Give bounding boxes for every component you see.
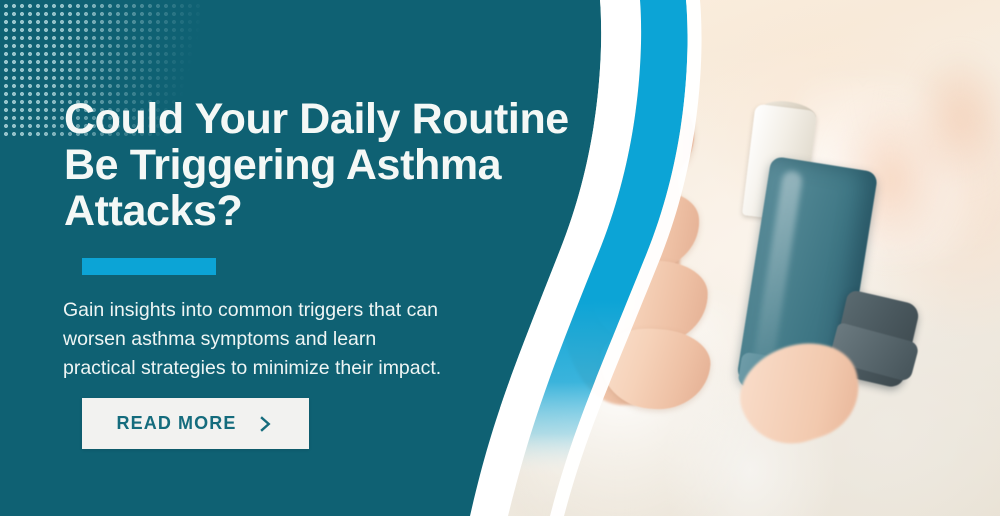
read-more-label: READ MORE bbox=[117, 413, 237, 434]
chevron-right-icon bbox=[256, 415, 274, 433]
headline-line-3: Attacks? bbox=[64, 187, 242, 235]
read-more-button[interactable]: READ MORE bbox=[82, 398, 309, 449]
subtitle-line-2: worsen asthma symptoms and learn bbox=[63, 328, 376, 350]
subtitle-line-1: Gain insights into common triggers that … bbox=[63, 299, 438, 321]
headline-line-1: Could Your Daily Routine bbox=[64, 95, 569, 143]
subtitle: Gain insights into common triggers that … bbox=[63, 296, 523, 383]
page-title: Could Your Daily RoutineBe Triggering As… bbox=[64, 96, 584, 234]
promo-banner: Could Your Daily RoutineBe Triggering As… bbox=[0, 0, 1000, 516]
content-column: Could Your Daily RoutineBe Triggering As… bbox=[0, 0, 620, 516]
headline-line-2: Be Triggering Asthma bbox=[64, 141, 501, 189]
subtitle-line-3: practical strategies to minimize their i… bbox=[63, 357, 441, 379]
accent-bar bbox=[82, 258, 216, 275]
